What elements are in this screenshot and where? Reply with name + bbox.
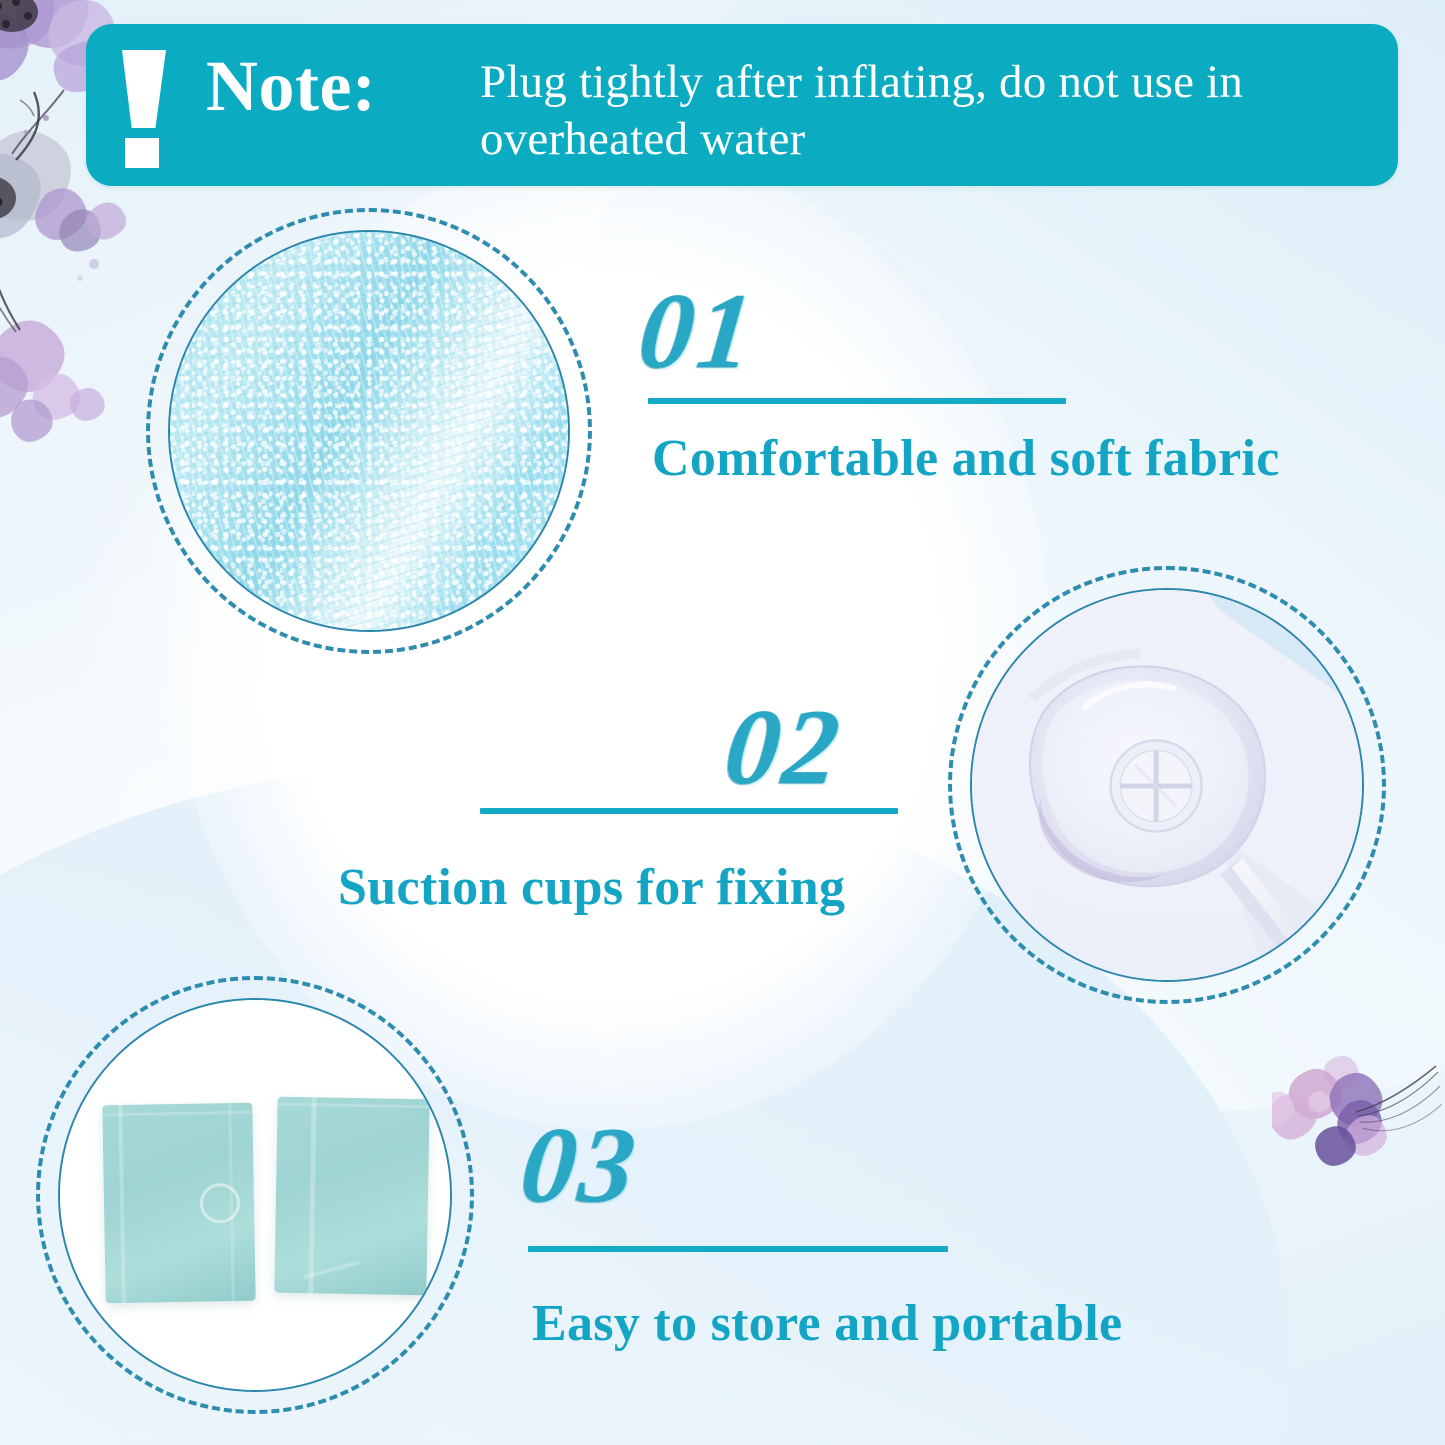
note-text: Plug tightly after inflating, do not use… xyxy=(480,54,1370,169)
note-banner: Note: Plug tightly after inflating, do n… xyxy=(86,24,1398,186)
feature-caption-02: Suction cups for fixing xyxy=(338,862,845,914)
feature-number-03: 03 xyxy=(516,1112,643,1220)
feature-rule-01 xyxy=(648,398,1066,404)
towel-fabric-closeup-photo xyxy=(146,208,592,654)
suction-cup-photo xyxy=(948,566,1386,1004)
photo-frame xyxy=(970,588,1364,982)
feature-number-02: 02 xyxy=(720,694,847,802)
feature-number-01: 01 xyxy=(634,278,761,386)
feature-caption-01: Comfortable and soft fabric xyxy=(652,433,1280,485)
feature-caption-03: Easy to store and portable xyxy=(532,1298,1122,1350)
exclamation-mark-icon xyxy=(114,50,176,166)
photo-frame xyxy=(168,230,570,632)
watercolor-flowers-bottom-right-icon xyxy=(1272,1052,1445,1202)
photo-frame xyxy=(58,998,452,1392)
product-feature-infographic: Note: Plug tightly after inflating, do n… xyxy=(0,0,1445,1445)
folded-towels-photo xyxy=(36,976,474,1414)
note-label: Note: xyxy=(206,50,376,122)
feature-rule-03 xyxy=(528,1246,948,1252)
suction-cup-illustration xyxy=(972,590,1362,980)
feature-rule-02 xyxy=(480,808,898,814)
